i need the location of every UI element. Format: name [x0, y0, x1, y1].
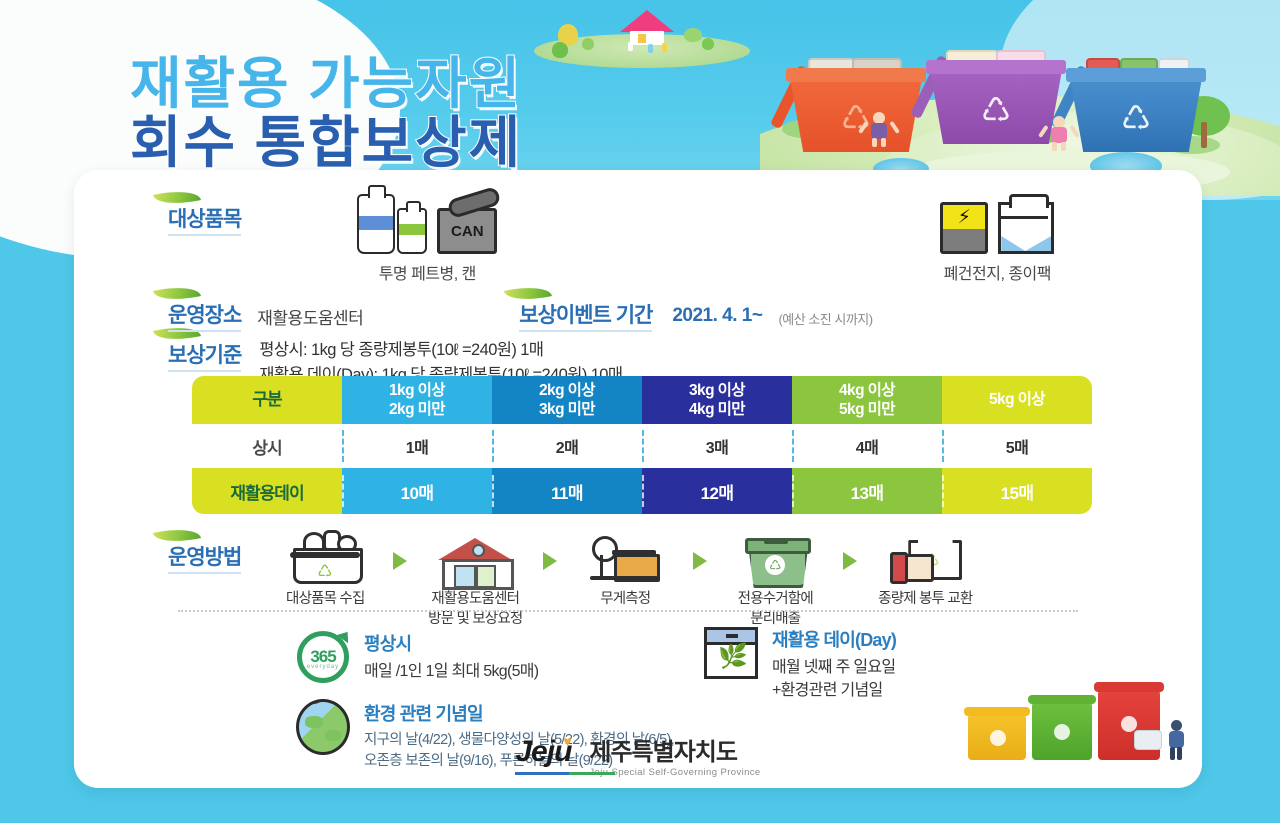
kid-figure-purple: [868, 112, 890, 146]
label-text: 보상이벤트 기간: [519, 299, 652, 332]
table-header-first-label: 구분: [252, 389, 281, 410]
table-header-cell: 5kg 이상: [942, 376, 1092, 424]
event-date-value: 2021. 4. 1~: [672, 293, 762, 327]
table-cell: 1매: [342, 424, 492, 468]
table-header-cell: 2kg 이상 3kg 미만: [492, 376, 642, 424]
operating-place-value: 재활용도움센터: [257, 292, 363, 329]
recycle-center-icon: [438, 538, 512, 584]
recycle-day-line-2: +환경관련 기념일: [772, 679, 896, 702]
can-label: CAN: [451, 223, 484, 240]
label-text: 대상품목: [168, 203, 241, 236]
weight-scale-icon: [590, 536, 660, 584]
item-group-battery-carton: ⚡ 폐건전지, 종이팩: [847, 192, 1147, 284]
step-caption: 대상품목 수집: [286, 590, 364, 610]
process-step: ♺ 대상품목 수집: [263, 530, 387, 610]
table-cell: 10매: [342, 468, 492, 514]
table-row-label: 재활용데이: [192, 468, 342, 514]
bin-green-lid: [1028, 695, 1096, 704]
arrow-right-icon: [543, 552, 557, 570]
table-header-first-cell: 구분: [192, 376, 342, 424]
label-text: 운영방법: [168, 541, 241, 574]
trash-bag-exchange-icon: ♺: [890, 538, 960, 584]
arrow-right-icon: [843, 552, 857, 570]
process-row: 운영방법 ♺ 대상품목 수집 재활용도움센터방문 및 보상요청: [168, 530, 987, 629]
step-caption: 무게측정: [600, 590, 650, 610]
environment-days-title: 환경 관련 기념일: [364, 700, 674, 726]
process-step: ♺ 종량제 봉투 교환: [863, 530, 987, 610]
process-step: 무게측정: [563, 530, 687, 610]
normal-day-body: 매일 /1인 1일 최대 5kg(5매): [364, 660, 538, 683]
jeju-logo: ♥ Jeju: [515, 735, 571, 775]
title-line-2: 회수 통합보상제: [130, 113, 522, 172]
normal-day-title: 평상시: [364, 630, 538, 656]
island-tree-icon: [582, 38, 594, 50]
island-tree-icon: [684, 28, 702, 42]
target-items-row: 대상품목 CAN 투명 페트병, 캔 ⚡: [168, 192, 1147, 284]
can-icon: CAN: [437, 208, 497, 254]
basket-icon: ♺: [293, 544, 357, 584]
content-card: 대상품목 CAN 투명 페트병, 캔 ⚡: [74, 170, 1202, 788]
process-steps: ♺ 대상품목 수집 재활용도움센터방문 및 보상요청 무게측정: [263, 530, 987, 629]
process-step: ♺ 전용수거함에분리배출: [713, 530, 837, 629]
table-cell: 13매: [792, 468, 942, 514]
item-caption: 투명 페트병, 캔: [379, 260, 476, 284]
item-caption: 폐건전지, 종이팩: [944, 260, 1051, 284]
table-row: 상시 1매 2매 3매 4매 5매: [192, 424, 1092, 468]
poster-title: 재활용 가능자원 회수 통합보상제: [130, 54, 522, 173]
table-header-cell: 1kg 이상 2kg 미만: [342, 376, 492, 424]
table-cell: 5매: [942, 424, 1092, 468]
step-caption: 종량제 봉투 교환: [878, 590, 972, 610]
label-text: 운영장소: [168, 299, 241, 332]
pet-bottle-icon: [357, 194, 395, 254]
footer: ♥ Jeju 제주특별자치도 Jeju Special Self-Governi…: [74, 732, 1202, 778]
recycle-day-line-1: 매월 넷째 주 일요일: [772, 656, 896, 679]
label-reward-criteria: 보상기준: [168, 328, 241, 372]
island-tree-icon: [702, 38, 714, 50]
bin-red-lid: [1094, 682, 1164, 692]
label-text: 보상기준: [168, 339, 241, 372]
label-operation-method: 운영방법: [168, 530, 241, 574]
event-note: (예산 소진 시까지): [778, 292, 872, 328]
label-event-period: 보상이벤트 기간: [519, 288, 652, 332]
table-cell: 2매: [492, 424, 642, 468]
table-cell: 4매: [792, 424, 942, 468]
365-subtext: everyday: [307, 664, 339, 670]
park-tree-trunk: [1201, 122, 1207, 148]
arrow-right-icon: [693, 552, 707, 570]
island-house-illustration: [516, 8, 766, 70]
table-cell: 12매: [642, 468, 792, 514]
365-icon: 365 everyday: [296, 630, 350, 684]
label-target-items: 대상품목: [168, 192, 241, 236]
normal-day-block: 365 everyday 평상시 매일 /1인 1일 최대 5kg(5매): [296, 630, 666, 684]
person-figure: [628, 42, 633, 51]
jeju-name-korean: 제주특별자치도: [589, 732, 760, 767]
kid-figure-pink: [1048, 116, 1070, 150]
table-row-label: 상시: [192, 424, 342, 468]
title-line-1: 재활용 가능자원: [130, 54, 522, 113]
bin-yellow-lid: [964, 707, 1030, 716]
process-step: 재활용도움센터방문 및 보상요청: [413, 530, 537, 629]
table-header-row: 구분 1kg 이상 2kg 미만 2kg 이상 3kg 미만 3kg 이상 4k…: [192, 376, 1092, 424]
table-header-cell: 4kg 이상 5kg 미만: [792, 376, 942, 424]
park-bins-illustration: ♺ ♺ ♺: [760, 0, 1280, 196]
divider-line: [178, 610, 1078, 612]
table-row: 재활용데이 10매 11매 12매 13매 15매: [192, 468, 1092, 514]
item-group-bottles-cans: CAN 투명 페트병, 캔: [277, 192, 577, 284]
reward-table: 구분 1kg 이상 2kg 미만 2kg 이상 3kg 미만 3kg 이상 4k…: [192, 376, 1092, 514]
table-cell: 15매: [942, 468, 1092, 514]
battery-icon: ⚡: [940, 202, 988, 254]
arrow-right-icon: [393, 552, 407, 570]
calendar-plant-icon: 🌿: [704, 626, 758, 680]
poster-root: ♺ ♺ ♺: [0, 0, 1280, 823]
table-cell: 3매: [642, 424, 792, 468]
bin-recycle-mark: [1121, 716, 1137, 732]
table-cell: 11매: [492, 468, 642, 514]
place-and-event-row: 운영장소 재활용도움센터 보상이벤트 기간 2021. 4. 1~ (예산 소진…: [168, 288, 873, 332]
person-figure: [648, 44, 653, 53]
pet-bottle-small-icon: [397, 208, 427, 254]
table-header-cell: 3kg 이상 4kg 미만: [642, 376, 792, 424]
recycle-day-title: 재활용 데이(Day): [772, 626, 896, 652]
label-operating-place: 운영장소: [168, 288, 241, 332]
collection-bin-icon: ♺: [746, 536, 804, 584]
person-figure: [662, 43, 667, 52]
criteria-line-1: 평상시: 1kg 당 종량제봉투(10ℓ =240원) 1매: [259, 338, 622, 363]
island-tree-icon: [552, 42, 568, 58]
paper-carton-icon: [998, 202, 1054, 254]
house-icon: [620, 10, 674, 44]
